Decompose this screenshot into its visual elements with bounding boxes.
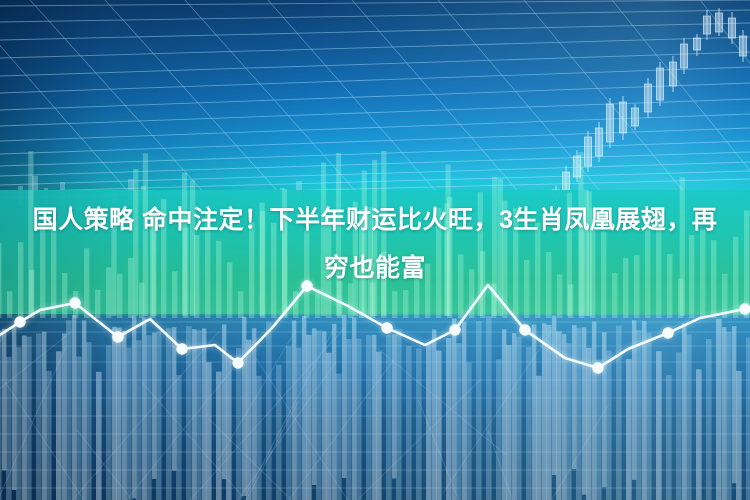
banner-image: 国人策略 命中注定！下半年财运比火旺，3生肖凤凰展翅，再 穷也能富 <box>0 0 750 500</box>
line-chart-marker <box>70 298 80 308</box>
line-chart-marker <box>520 325 530 335</box>
headline-overlay: 国人策略 命中注定！下半年财运比火旺，3生肖凤凰展翅，再 穷也能富 <box>0 196 750 292</box>
line-chart-marker <box>663 328 673 338</box>
line-chart-marker <box>113 332 123 342</box>
headline-line-2: 穷也能富 <box>16 244 734 292</box>
line-chart-path <box>0 285 745 368</box>
line-chart-marker <box>382 323 392 333</box>
line-chart-marker <box>593 363 603 373</box>
line-chart-marker <box>233 358 243 368</box>
line-chart-marker <box>177 344 187 354</box>
line-chart-marker <box>740 304 750 314</box>
line-chart-marker <box>15 317 25 327</box>
headline-line-1: 国人策略 命中注定！下半年财运比火旺，3生肖凤凰展翅，再 <box>16 196 734 244</box>
line-chart-marker <box>450 325 460 335</box>
